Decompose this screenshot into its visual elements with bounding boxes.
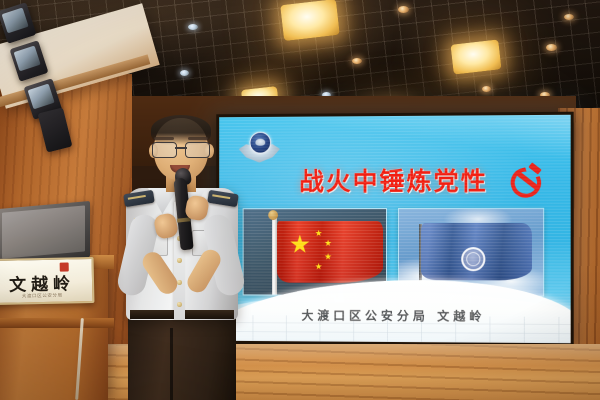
stage-light-lens <box>14 46 41 72</box>
projection-screen: 战火中锤炼党性 <box>219 115 570 343</box>
slide-caption: 大渡口区公安分局 文越岭 <box>219 306 570 325</box>
laptop-screen <box>2 205 85 258</box>
police-badge-disc <box>250 132 272 154</box>
glasses-lens-left <box>152 142 177 158</box>
glasses-bridge <box>175 147 187 149</box>
speaker-person <box>118 118 244 400</box>
speaker-nameplate: 文越岭 大渡口区公安分局 <box>0 257 94 305</box>
speaker-eyebrow-left <box>154 137 174 140</box>
speaker-trouser-seam <box>170 328 173 400</box>
un-emblem-icon <box>461 247 485 271</box>
cn-flag-big-star <box>290 235 310 255</box>
lectern-shelf-edge <box>0 318 114 328</box>
cn-flag-cloth <box>277 221 382 283</box>
ceiling-downlight <box>398 6 409 13</box>
ceiling-downlight <box>482 86 491 92</box>
uniform-button <box>177 258 182 263</box>
speaker-glasses <box>152 142 210 157</box>
cn-flag-small-star <box>315 263 322 270</box>
cn-flag-pole <box>272 213 277 295</box>
screenshot-root: 战火中锤炼党性 <box>0 0 600 400</box>
cn-flag-small-star <box>315 230 322 237</box>
stage-light-lens <box>28 84 55 110</box>
ceiling-downlight <box>180 70 189 76</box>
un-flag-cloth <box>421 223 531 280</box>
epaulette-stripe <box>128 195 146 199</box>
laptop-on-lectern <box>0 201 90 265</box>
cn-flag-small-star <box>325 253 332 260</box>
ceiling-panel-light <box>280 0 340 41</box>
ceiling-downlight <box>564 14 574 20</box>
stage-light-lens <box>2 8 29 34</box>
uniform-button <box>177 302 182 307</box>
ceiling-panel-light <box>450 39 501 74</box>
projection-screen-frame: 战火中锤炼党性 <box>216 112 573 347</box>
ceiling-downlight <box>546 44 557 51</box>
slide-title: 战火中锤炼党性 <box>219 161 570 198</box>
nameplate-subtitle: 大渡口区公安分局 <box>0 292 92 300</box>
speaker-hair <box>151 115 211 145</box>
epaulette-stripe <box>212 194 230 198</box>
glasses-lens-right <box>185 142 210 158</box>
speaker-trousers <box>128 314 236 400</box>
cn-flag-small-star <box>325 240 332 247</box>
speaker-eyebrow-right <box>188 137 208 140</box>
ceiling-downlight <box>188 24 198 30</box>
cn-flag-pole-knob <box>268 210 278 220</box>
ceiling-downlight <box>352 58 362 64</box>
